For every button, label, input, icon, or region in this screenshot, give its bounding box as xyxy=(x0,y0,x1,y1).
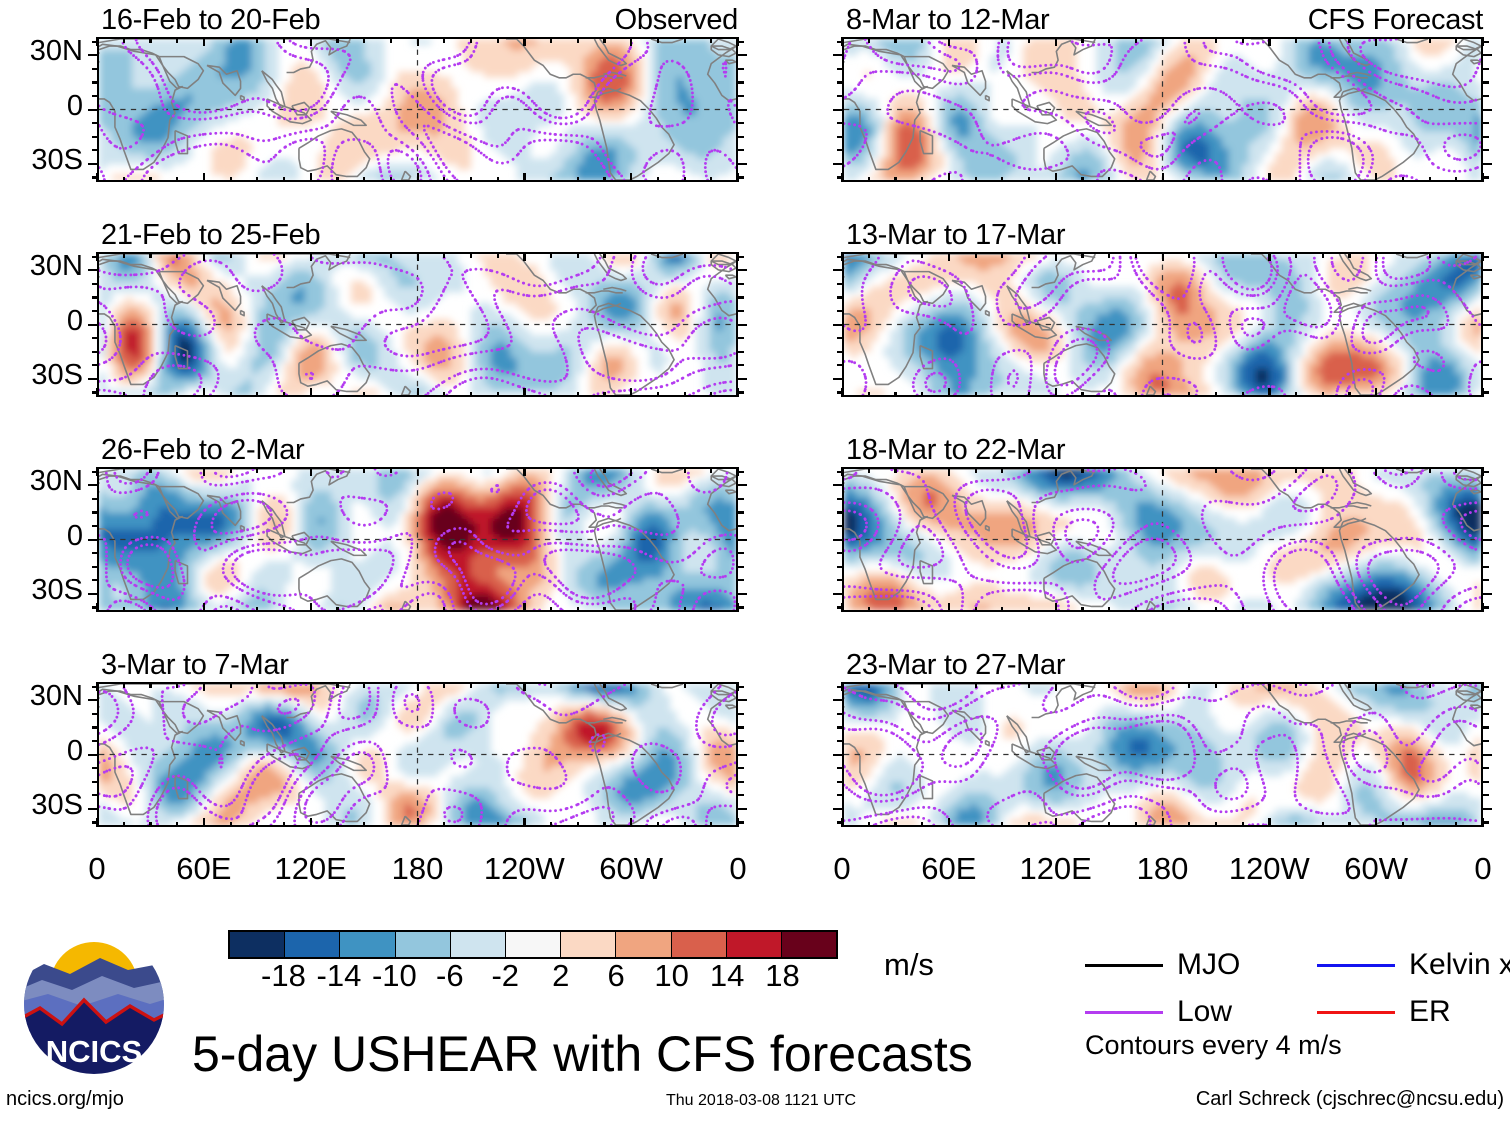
y-tick xyxy=(1483,808,1492,810)
y-tick xyxy=(833,269,842,271)
x-tick xyxy=(1108,252,1110,258)
x-tick xyxy=(497,177,499,183)
x-tick xyxy=(336,37,338,43)
y-tick xyxy=(1483,378,1492,380)
footer-timestamp: Thu 2018-03-08 1121 UTC xyxy=(666,1092,856,1110)
y-tick xyxy=(837,606,843,608)
x-tick xyxy=(630,173,632,182)
y-tick xyxy=(1483,794,1489,796)
y-tick xyxy=(92,726,98,728)
x-tick xyxy=(1268,37,1270,46)
x-tick xyxy=(1402,177,1404,183)
x-tick xyxy=(363,392,365,398)
colorbar-tick-labels: -18-14-10-6-226101418 xyxy=(228,960,838,994)
y-tick xyxy=(738,606,744,608)
y-tick xyxy=(1483,81,1489,83)
x-tick xyxy=(1215,177,1217,183)
x-tick xyxy=(1162,252,1164,261)
x-tick xyxy=(1242,822,1244,828)
x-tick xyxy=(550,467,552,473)
x-tick xyxy=(523,467,525,476)
colorbar: -18-14-10-6-226101418 xyxy=(228,930,838,994)
x-tick xyxy=(470,37,472,43)
x-tick xyxy=(550,37,552,43)
x-tick xyxy=(1001,467,1003,473)
x-tick xyxy=(417,173,419,182)
y-tick xyxy=(1483,471,1489,473)
colorbar-tick-label: -14 xyxy=(317,958,362,994)
x-tick xyxy=(230,607,232,613)
x-tick xyxy=(710,822,712,828)
legend-label: ER xyxy=(1409,995,1451,1029)
y-tick xyxy=(88,593,97,595)
x-tick xyxy=(1429,252,1431,258)
x-tick xyxy=(1001,252,1003,258)
x-tick xyxy=(1295,467,1297,473)
ncics-logo: NCICS xyxy=(18,928,170,1080)
x-tick xyxy=(894,467,896,473)
x-tick xyxy=(256,607,258,613)
x-tick xyxy=(894,682,896,688)
x-tick xyxy=(203,37,205,46)
y-tick xyxy=(92,767,98,769)
x-tick xyxy=(390,392,392,398)
y-tick xyxy=(88,539,97,541)
y-tick xyxy=(92,337,98,339)
y-tick xyxy=(1483,54,1492,56)
x-tick xyxy=(868,252,870,258)
y-tick xyxy=(738,41,744,43)
x-tick xyxy=(868,392,870,398)
x-tick xyxy=(975,467,977,473)
y-tick xyxy=(738,269,747,271)
x-tick xyxy=(868,467,870,473)
panel-title: 3-Mar to 7-Mar xyxy=(101,649,289,682)
x-tick xyxy=(1429,37,1431,43)
x-tick xyxy=(1188,822,1190,828)
colorbar-units-label: m/s xyxy=(884,947,934,983)
x-tick xyxy=(1028,392,1030,398)
x-tick xyxy=(603,177,605,183)
y-axis-label: 0 xyxy=(5,735,83,768)
legend-line-swatch xyxy=(1317,1011,1395,1014)
y-tick xyxy=(92,296,98,298)
y-tick xyxy=(837,767,843,769)
footer-website[interactable]: ncics.org/mjo xyxy=(6,1088,124,1111)
x-tick xyxy=(336,252,338,258)
x-tick xyxy=(1375,818,1377,827)
x-tick xyxy=(894,822,896,828)
y-tick xyxy=(833,324,842,326)
x-tick xyxy=(176,682,178,688)
x-tick xyxy=(684,467,686,473)
x-tick xyxy=(577,177,579,183)
x-tick xyxy=(256,252,258,258)
y-tick xyxy=(1483,283,1489,285)
x-tick xyxy=(603,607,605,613)
y-tick xyxy=(1483,136,1489,138)
y-tick xyxy=(738,471,744,473)
x-tick xyxy=(1028,37,1030,43)
x-tick xyxy=(390,822,392,828)
contour-interval-note: Contours every 4 m/s xyxy=(1085,1030,1342,1061)
x-tick xyxy=(497,392,499,398)
y-tick xyxy=(833,109,842,111)
y-axis-label: 0 xyxy=(5,90,83,123)
x-tick xyxy=(1375,252,1377,261)
x-tick xyxy=(470,467,472,473)
x-tick xyxy=(256,822,258,828)
x-tick xyxy=(1028,682,1030,688)
x-tick xyxy=(1348,392,1350,398)
x-tick xyxy=(1402,607,1404,613)
x-tick xyxy=(1135,392,1137,398)
x-tick xyxy=(417,388,419,397)
x-tick xyxy=(363,467,365,473)
x-tick xyxy=(1081,392,1083,398)
y-tick xyxy=(738,821,744,823)
x-tick xyxy=(921,37,923,43)
x-tick xyxy=(1215,37,1217,43)
x-tick xyxy=(1081,177,1083,183)
colorbar-swatch xyxy=(616,932,671,957)
x-tick xyxy=(1215,392,1217,398)
y-axis-label: 30S xyxy=(5,789,83,822)
x-tick xyxy=(256,467,258,473)
y-tick xyxy=(738,699,747,701)
x-tick xyxy=(256,682,258,688)
map-panel[interactable] xyxy=(97,682,738,827)
x-tick xyxy=(363,682,365,688)
y-tick xyxy=(837,122,843,124)
x-tick xyxy=(310,173,312,182)
y-tick xyxy=(738,351,744,353)
map-panel[interactable] xyxy=(97,467,738,612)
y-tick xyxy=(92,498,98,500)
y-tick xyxy=(837,81,843,83)
x-tick xyxy=(149,177,151,183)
x-tick xyxy=(417,252,419,261)
x-tick xyxy=(577,822,579,828)
y-tick xyxy=(92,41,98,43)
panel-title: 18-Mar to 22-Mar xyxy=(846,434,1065,467)
y-tick xyxy=(837,337,843,339)
y-tick xyxy=(92,471,98,473)
x-tick xyxy=(710,252,712,258)
x-tick xyxy=(975,252,977,258)
x-tick xyxy=(710,37,712,43)
x-tick xyxy=(310,467,312,476)
x-tick xyxy=(417,467,419,476)
x-tick xyxy=(123,252,125,258)
y-tick xyxy=(1483,256,1489,258)
x-tick xyxy=(550,682,552,688)
x-tick xyxy=(1402,252,1404,258)
map-canvas xyxy=(99,684,736,825)
footer-author[interactable]: Carl Schreck (cjschrec@ncsu.edu) xyxy=(1196,1088,1504,1111)
x-tick xyxy=(1322,177,1324,183)
x-tick xyxy=(149,822,151,828)
map-panel[interactable] xyxy=(842,467,1483,612)
map-panel[interactable] xyxy=(97,37,738,182)
x-tick xyxy=(390,682,392,688)
y-tick xyxy=(738,740,744,742)
y-axis-label: 30S xyxy=(5,359,83,392)
y-tick xyxy=(92,256,98,258)
map-canvas xyxy=(844,39,1481,180)
x-tick xyxy=(443,467,445,473)
y-tick xyxy=(1483,484,1492,486)
x-tick xyxy=(1429,822,1431,828)
y-tick xyxy=(92,364,98,366)
y-tick xyxy=(738,176,744,178)
x-tick xyxy=(1455,607,1457,613)
x-tick xyxy=(975,822,977,828)
x-tick xyxy=(1429,177,1431,183)
y-tick xyxy=(92,552,98,554)
map-canvas xyxy=(99,254,736,395)
map-panel[interactable] xyxy=(842,682,1483,827)
x-tick xyxy=(868,682,870,688)
x-tick xyxy=(921,467,923,473)
x-tick xyxy=(1081,467,1083,473)
x-tick xyxy=(1135,252,1137,258)
colorbar-tick-label: 6 xyxy=(608,958,625,994)
y-tick xyxy=(1483,539,1492,541)
y-tick xyxy=(1483,699,1492,701)
x-tick xyxy=(630,37,632,46)
x-tick xyxy=(868,822,870,828)
y-tick xyxy=(738,68,744,70)
y-tick xyxy=(1483,686,1489,688)
y-tick xyxy=(837,498,843,500)
x-tick xyxy=(230,37,232,43)
x-tick xyxy=(1402,682,1404,688)
colorbar-swatch xyxy=(451,932,506,957)
x-tick xyxy=(1295,392,1297,398)
x-tick xyxy=(657,392,659,398)
x-tick xyxy=(1295,607,1297,613)
x-tick xyxy=(443,392,445,398)
map-panel[interactable] xyxy=(97,252,738,397)
y-tick xyxy=(738,256,744,258)
legend-item-er: ER xyxy=(1317,995,1451,1029)
map-panel[interactable] xyxy=(842,37,1483,182)
x-tick xyxy=(1402,467,1404,473)
x-tick xyxy=(1268,603,1270,612)
x-tick xyxy=(149,607,151,613)
x-tick xyxy=(1295,822,1297,828)
x-tick xyxy=(1348,467,1350,473)
y-tick xyxy=(1483,767,1489,769)
x-tick xyxy=(1188,177,1190,183)
x-tick xyxy=(1162,603,1164,612)
x-tick xyxy=(630,818,632,827)
x-tick xyxy=(203,467,205,476)
y-tick xyxy=(837,511,843,513)
y-tick xyxy=(1483,525,1489,527)
y-tick xyxy=(738,484,747,486)
x-tick xyxy=(470,822,472,828)
y-tick xyxy=(88,484,97,486)
legend-label: MJO xyxy=(1177,948,1240,982)
x-tick xyxy=(470,392,472,398)
x-tick xyxy=(921,607,923,613)
y-tick xyxy=(1483,310,1489,312)
x-tick xyxy=(1135,607,1137,613)
x-tick xyxy=(1055,682,1057,691)
y-tick xyxy=(92,794,98,796)
y-tick xyxy=(738,364,744,366)
panel-title: 21-Feb to 25-Feb xyxy=(101,219,320,252)
x-tick xyxy=(1108,822,1110,828)
x-tick xyxy=(1081,607,1083,613)
x-tick xyxy=(203,388,205,397)
x-tick xyxy=(390,37,392,43)
x-tick xyxy=(176,822,178,828)
y-tick xyxy=(1483,163,1492,165)
x-tick xyxy=(868,607,870,613)
y-tick xyxy=(1483,821,1489,823)
y-tick xyxy=(738,378,747,380)
x-tick xyxy=(203,682,205,691)
x-tick xyxy=(123,177,125,183)
x-tick xyxy=(363,177,365,183)
y-tick xyxy=(88,699,97,701)
map-canvas xyxy=(99,39,736,180)
y-tick xyxy=(738,498,744,500)
x-tick xyxy=(577,467,579,473)
y-tick xyxy=(1483,149,1489,151)
x-tick xyxy=(256,37,258,43)
y-tick xyxy=(92,351,98,353)
x-tick xyxy=(657,607,659,613)
x-tick xyxy=(1028,467,1030,473)
y-tick xyxy=(92,525,98,527)
x-tick xyxy=(1242,682,1244,688)
y-tick xyxy=(833,378,842,380)
x-tick xyxy=(550,607,552,613)
y-tick xyxy=(1483,726,1489,728)
y-tick xyxy=(738,511,744,513)
x-tick xyxy=(417,818,419,827)
x-tick xyxy=(283,37,285,43)
x-tick xyxy=(1162,467,1164,476)
x-tick xyxy=(390,607,392,613)
x-tick xyxy=(149,467,151,473)
x-tick xyxy=(1429,682,1431,688)
x-tick xyxy=(1322,467,1324,473)
y-tick xyxy=(1483,296,1489,298)
x-tick xyxy=(470,682,472,688)
x-tick xyxy=(1215,252,1217,258)
x-tick xyxy=(443,822,445,828)
y-tick xyxy=(1483,41,1489,43)
y-tick xyxy=(1483,754,1492,756)
x-tick xyxy=(1028,252,1030,258)
y-tick xyxy=(833,699,842,701)
x-tick xyxy=(1455,392,1457,398)
y-tick xyxy=(738,310,744,312)
colorbar-swatch xyxy=(727,932,782,957)
figure-root: 16-Feb to 20-FebObserved21-Feb to 25-Feb… xyxy=(0,0,1510,1121)
y-axis-label: 30N xyxy=(5,465,83,498)
x-tick xyxy=(523,603,525,612)
legend-label: Kelvin x2 xyxy=(1409,948,1510,982)
x-tick xyxy=(975,177,977,183)
x-tick xyxy=(336,467,338,473)
x-tick xyxy=(1188,37,1190,43)
x-tick xyxy=(577,252,579,258)
x-tick xyxy=(417,682,419,691)
panel-title: 23-Mar to 27-Mar xyxy=(846,649,1065,682)
x-tick xyxy=(1429,392,1431,398)
x-tick xyxy=(1162,818,1164,827)
x-tick xyxy=(1242,252,1244,258)
x-tick xyxy=(283,177,285,183)
x-tick xyxy=(1402,37,1404,43)
x-tick xyxy=(657,37,659,43)
y-axis-label: 0 xyxy=(5,305,83,338)
y-tick xyxy=(92,149,98,151)
x-tick xyxy=(1322,252,1324,258)
x-tick xyxy=(1348,37,1350,43)
x-tick xyxy=(894,37,896,43)
x-tick xyxy=(577,682,579,688)
y-tick xyxy=(92,781,98,783)
x-tick xyxy=(550,822,552,828)
x-tick xyxy=(1001,822,1003,828)
legend-item-kelvin-x2: Kelvin x2 xyxy=(1317,948,1510,982)
colorbar-swatches xyxy=(228,930,838,959)
y-axis-label: 30N xyxy=(5,680,83,713)
x-tick xyxy=(230,392,232,398)
x-tick xyxy=(417,37,419,46)
colorbar-swatch xyxy=(672,932,727,957)
x-tick xyxy=(921,252,923,258)
x-tick xyxy=(894,392,896,398)
x-tick xyxy=(123,392,125,398)
x-tick xyxy=(1402,822,1404,828)
x-tick xyxy=(684,822,686,828)
x-tick xyxy=(176,467,178,473)
map-panel[interactable] xyxy=(842,252,1483,397)
x-tick xyxy=(684,607,686,613)
x-tick xyxy=(149,392,151,398)
x-tick xyxy=(230,682,232,688)
x-tick xyxy=(1455,177,1457,183)
x-tick xyxy=(1268,388,1270,397)
x-tick xyxy=(1215,467,1217,473)
x-tick xyxy=(1028,607,1030,613)
x-tick xyxy=(443,682,445,688)
x-tick xyxy=(283,822,285,828)
y-axis-label: 30S xyxy=(5,574,83,607)
x-tick xyxy=(948,467,950,476)
x-tick xyxy=(684,177,686,183)
column-header-right: CFS Forecast xyxy=(842,4,1483,37)
x-tick xyxy=(1268,467,1270,476)
y-tick xyxy=(837,283,843,285)
x-tick xyxy=(1001,37,1003,43)
x-tick xyxy=(603,822,605,828)
x-tick xyxy=(176,252,178,258)
x-tick xyxy=(1268,252,1270,261)
x-tick xyxy=(1055,603,1057,612)
y-tick xyxy=(1483,176,1489,178)
x-tick xyxy=(283,392,285,398)
x-tick xyxy=(657,177,659,183)
